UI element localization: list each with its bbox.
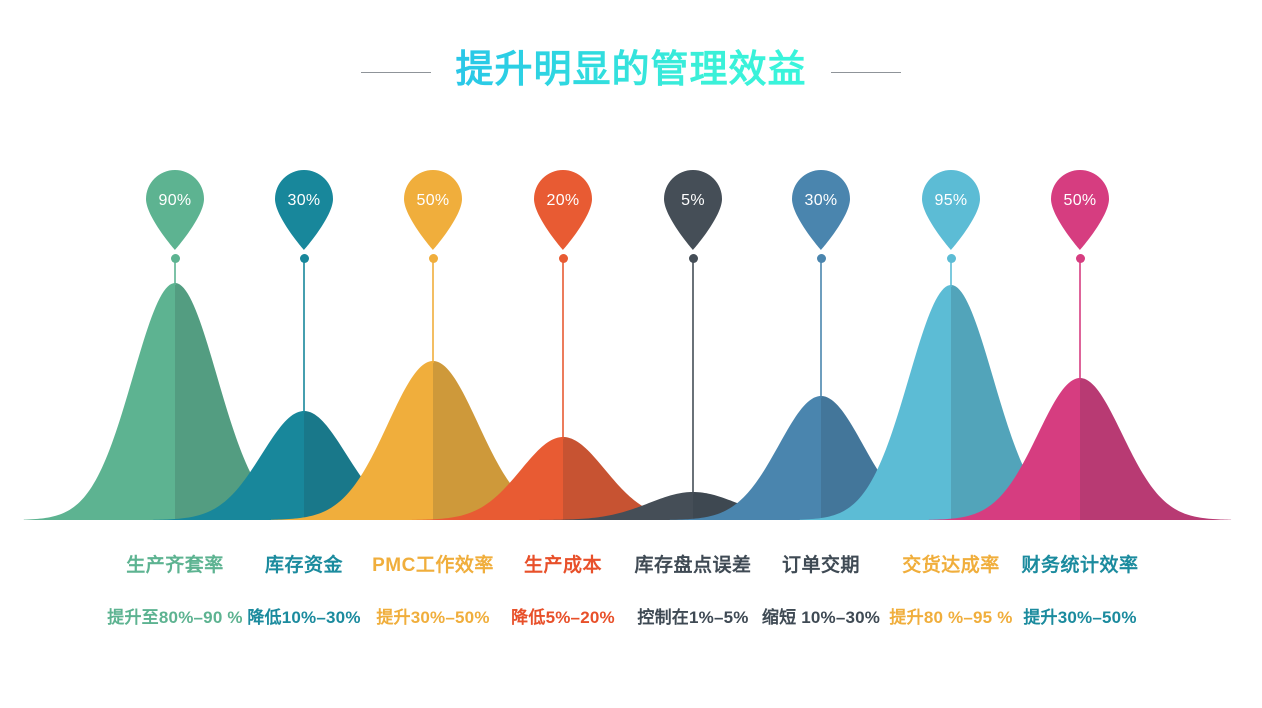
balloon-marker-3[interactable]: 50%: [402, 170, 464, 250]
balloon-icon: [402, 170, 464, 250]
metric-label-5: 库存盘点误差: [634, 550, 751, 577]
marker-dot-2: [300, 254, 309, 263]
marker-dot-5: [689, 254, 698, 263]
marker-dot-6: [817, 254, 826, 263]
balloon-marker-7[interactable]: 95%: [920, 170, 982, 250]
metric-target-3: 提升30%–50%: [376, 603, 489, 628]
balloon-icon: [144, 170, 206, 250]
metric-label-7: 交货达成率: [902, 550, 1000, 577]
metric-target-1: 提升至80%–90 %: [107, 603, 242, 628]
metric-label-3: PMC工作效率: [372, 550, 494, 577]
metric-label-6: 订单交期: [782, 550, 860, 577]
balloon-icon: [920, 170, 982, 250]
marker-dot-4: [559, 254, 568, 263]
balloon-icon: [532, 170, 594, 250]
balloon-marker-4[interactable]: 20%: [532, 170, 594, 250]
metric-target-8: 提升30%–50%: [1023, 603, 1136, 628]
infographic-canvas: 提升明显的管理效益 90%生产齐套率提升至80%–90 %30%库存资金降低10…: [0, 0, 1262, 708]
balloon-icon: [790, 170, 852, 250]
marker-dot-8: [1076, 254, 1085, 263]
marker-dot-7: [947, 254, 956, 263]
metric-label-4: 生产成本: [524, 550, 602, 577]
metric-target-5: 控制在1%–5%: [637, 603, 748, 628]
metric-target-2: 降低10%–30%: [247, 603, 360, 628]
marker-dot-1: [171, 254, 180, 263]
metric-label-2: 库存资金: [265, 550, 343, 577]
balloon-marker-1[interactable]: 90%: [144, 170, 206, 250]
balloon-icon: [662, 170, 724, 250]
balloon-marker-8[interactable]: 50%: [1049, 170, 1111, 250]
metric-target-6: 缩短 10%–30%: [762, 603, 880, 628]
metric-label-1: 生产齐套率: [126, 550, 224, 577]
metric-target-4: 降低5%–20%: [511, 603, 615, 628]
metric-target-7: 提升80 %–95 %: [889, 603, 1012, 628]
balloon-icon: [273, 170, 335, 250]
balloon-marker-2[interactable]: 30%: [273, 170, 335, 250]
balloon-marker-6[interactable]: 30%: [790, 170, 852, 250]
marker-dot-3: [429, 254, 438, 263]
marker-layer: 90%生产齐套率提升至80%–90 %30%库存资金降低10%–30%50%PM…: [0, 0, 1262, 708]
balloon-icon: [1049, 170, 1111, 250]
balloon-marker-5[interactable]: 5%: [662, 170, 724, 250]
metric-label-8: 财务统计效率: [1021, 550, 1138, 577]
